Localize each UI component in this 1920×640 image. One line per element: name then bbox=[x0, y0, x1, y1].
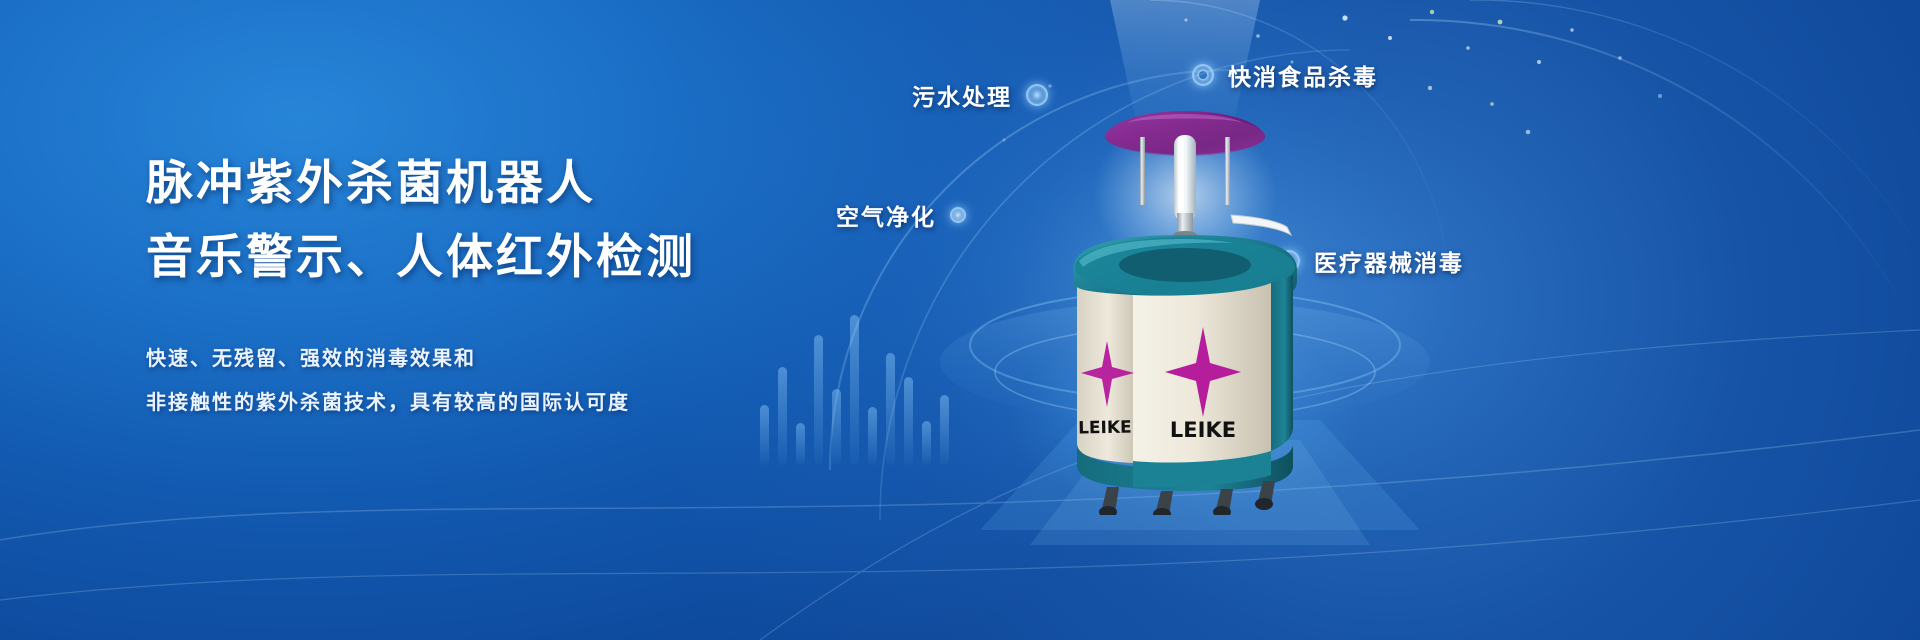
promo-banner: 脉冲紫外杀菌机器人 音乐警示、人体红外检测 快速、无残留、强效的消毒效果和 非接… bbox=[0, 0, 1920, 640]
brand-text-right: LEIKE bbox=[1170, 418, 1236, 442]
callout-label: 快消食品杀毒 bbox=[1228, 58, 1378, 92]
brand-text-left: LEIKE bbox=[1078, 418, 1132, 439]
callout-wastewater-treatment: 污水处理 bbox=[912, 78, 1048, 112]
uv-disinfection-robot: LEIKE LEIKE bbox=[1035, 95, 1335, 515]
title-line-1: 脉冲紫外杀菌机器人 bbox=[146, 150, 906, 218]
title-line-2: 音乐警示、人体红外检测 bbox=[146, 224, 906, 292]
subtitle-line-1: 快速、无残留、强效的消毒效果和 bbox=[146, 336, 906, 380]
callout-label: 医疗器械消毒 bbox=[1314, 244, 1464, 278]
subtitle-block: 快速、无残留、强效的消毒效果和 非接触性的紫外杀菌技术，具有较高的国际认可度 bbox=[146, 336, 906, 424]
uv-lamp-tube bbox=[1174, 135, 1196, 221]
subtitle-line-2: 非接触性的紫外杀菌技术，具有较高的国际认可度 bbox=[146, 380, 906, 424]
callout-label: 空气净化 bbox=[836, 198, 936, 232]
headline-block: 脉冲紫外杀菌机器人 音乐警示、人体红外检测 快速、无残留、强效的消毒效果和 非接… bbox=[146, 150, 906, 424]
callout-fmcg-food-sterilization: 快消食品杀毒 bbox=[1192, 58, 1378, 92]
node-small-icon bbox=[950, 207, 966, 223]
callout-label: 污水处理 bbox=[912, 78, 1012, 112]
node-ring-icon bbox=[1192, 64, 1214, 86]
callout-air-purification: 空气净化 bbox=[836, 198, 966, 232]
